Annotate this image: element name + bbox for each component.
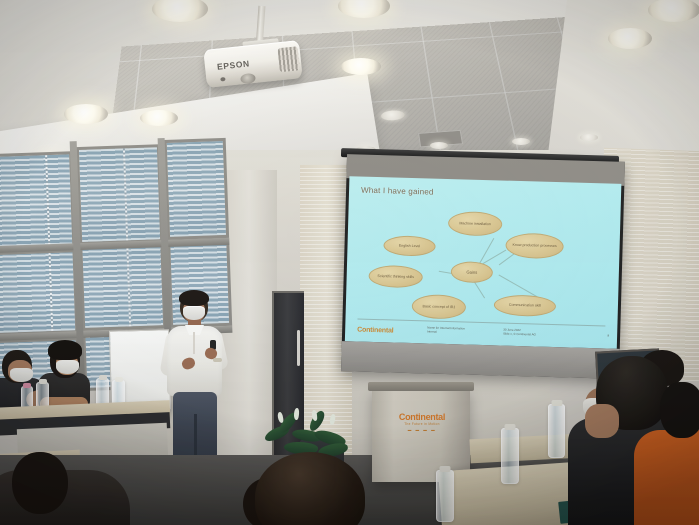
mindmap-node-basic-concept: Basic concept of IRJ (412, 294, 467, 319)
wristwatch-icon (213, 358, 222, 362)
downlight-12 (430, 142, 448, 149)
attendee-foreground-left-head (12, 452, 68, 514)
plant-flower-bud (293, 408, 299, 420)
meeting-room-photo: EPSON (0, 0, 699, 525)
podium-tagline: The Future in Motion (388, 422, 456, 426)
attendee-right-hand (585, 404, 619, 438)
slide-title: What I have gained (361, 186, 434, 197)
downlight-7 (140, 110, 178, 126)
presenter-shirt-placket (193, 332, 195, 354)
plant-flower-bud (329, 414, 336, 426)
window-blind-2[interactable] (79, 147, 160, 242)
window-pane-5 (79, 242, 166, 331)
mindmap-node-scientific-thinking: Scientific thinking skills (368, 265, 423, 288)
attendee-right-orange-shirt-body (634, 430, 699, 525)
slide-footer-confidentiality: Name for Internal Information Internal (427, 327, 465, 336)
presentation-slide: What I have gained Machine installation … (345, 176, 622, 349)
downlight-4 (608, 28, 652, 49)
attendee-left-2-hair (48, 340, 82, 360)
mindmap-node-machine-installation: Machine installation (448, 211, 503, 236)
window-blind-3[interactable] (167, 141, 226, 237)
slide-footer-divider (357, 319, 605, 327)
slide-footer-copyright: Slide x, © Continental AG (503, 333, 536, 338)
window-blind-4[interactable] (0, 252, 75, 333)
bottle-cap-icon (23, 383, 31, 388)
attendee-right-orange-shirt-head (660, 382, 699, 438)
window-pane-3 (164, 138, 229, 240)
plant-leaf (307, 409, 328, 433)
downlight-5 (341, 58, 381, 75)
bottle-cap-icon (99, 375, 107, 380)
water-bottle-6[interactable] (548, 404, 565, 458)
projection-screen: What I have gained Machine installation … (341, 154, 625, 379)
downlight-6 (64, 104, 108, 124)
plant-flower-bud (277, 412, 284, 424)
downlight-3 (648, 0, 699, 22)
projector-vent-grill (277, 46, 299, 72)
window-blind-5[interactable] (82, 245, 163, 328)
slide-page-number: 8 (607, 335, 609, 339)
face-mask-icon (56, 360, 79, 374)
bottle-cap-icon (39, 379, 47, 384)
face-mask-icon (183, 306, 205, 320)
window-pane-4 (0, 249, 78, 336)
presenter-hair (179, 290, 209, 306)
podium-top-surface (368, 382, 474, 391)
downlight-13 (512, 138, 530, 145)
door-handle[interactable] (297, 330, 300, 366)
mindmap-node-gains: Gains (451, 261, 494, 283)
bottle-cap-icon (505, 424, 516, 430)
mindmap-node-production-processes: Know production processes (505, 233, 564, 260)
bottle-cap-icon (551, 400, 562, 406)
slide-continental-logo: Continental (357, 327, 393, 335)
water-bottle-5[interactable] (501, 428, 519, 484)
podium-logo-accent: ▬ ▬ ▬ ▬ (396, 428, 448, 432)
downlight-14 (580, 134, 598, 141)
water-bottle-7[interactable] (436, 470, 454, 522)
window-pane-2 (76, 144, 163, 245)
podium-continental-logo: Continental (388, 412, 456, 422)
bottle-cap-icon (440, 466, 451, 472)
face-mask-icon (10, 368, 33, 382)
bottle-cap-icon (115, 377, 123, 382)
podium (372, 388, 470, 482)
window-pane-1 (0, 151, 75, 250)
mindmap-node-communication-skill: Communication skill (494, 294, 557, 317)
mindmap-node-english-level: English Level (383, 235, 436, 256)
window-blind-1[interactable] (0, 154, 72, 247)
slide-footer-date-block: 30 June 2022 Slide x, © Continental AG (503, 329, 536, 338)
